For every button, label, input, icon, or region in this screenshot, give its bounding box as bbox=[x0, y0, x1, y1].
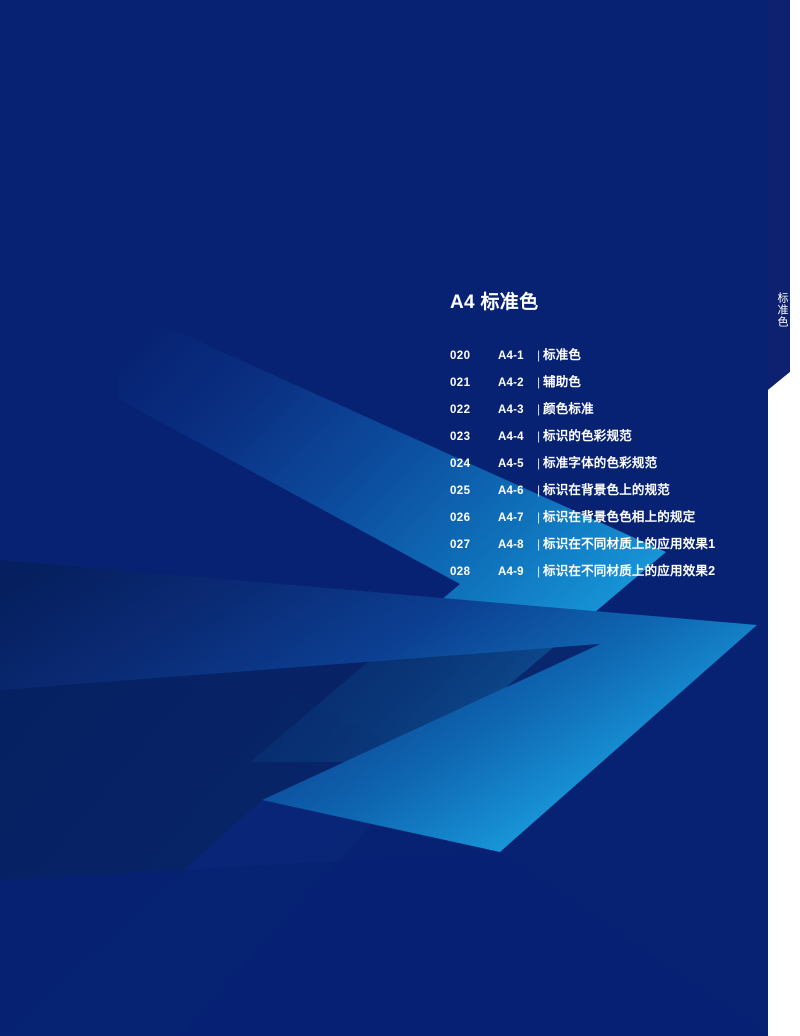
toc-separator: | bbox=[534, 375, 543, 389]
side-tab-label: 标准色 bbox=[768, 292, 790, 328]
toc-code: A4-2 bbox=[498, 377, 534, 389]
side-tab-shape bbox=[768, 0, 790, 390]
toc-code: A4-1 bbox=[498, 350, 534, 362]
toc-code: A4-8 bbox=[498, 539, 534, 551]
toc-separator: | bbox=[534, 402, 543, 416]
toc-number: 026 bbox=[450, 512, 498, 524]
toc-separator: | bbox=[534, 429, 543, 443]
toc-number: 020 bbox=[450, 350, 498, 362]
toc-separator: | bbox=[534, 564, 543, 578]
toc-label: 标识在背景色上的规范 bbox=[543, 479, 750, 498]
page-title: A4 标准色 bbox=[450, 290, 750, 316]
toc-code: A4-3 bbox=[498, 404, 534, 416]
toc-row[interactable]: 020 A4-1 | 标准色 bbox=[450, 344, 750, 371]
toc-code: A4-7 bbox=[498, 512, 534, 524]
toc-row[interactable]: 022 A4-3 | 颜色标准 bbox=[450, 398, 750, 425]
toc-separator: | bbox=[534, 483, 543, 497]
toc-label: 颜色标准 bbox=[543, 398, 750, 417]
toc-row[interactable]: 028 A4-9 | 标识在不同材质上的应用效果2 bbox=[450, 560, 750, 587]
toc-number: 024 bbox=[450, 458, 498, 470]
toc-number: 022 bbox=[450, 404, 498, 416]
toc-label: 标准色 bbox=[543, 344, 750, 363]
toc-number: 027 bbox=[450, 539, 498, 551]
toc-separator: | bbox=[534, 510, 543, 524]
toc-number: 023 bbox=[450, 431, 498, 443]
toc-row[interactable]: 023 A4-4 | 标识的色彩规范 bbox=[450, 425, 750, 452]
toc-separator: | bbox=[534, 456, 543, 470]
toc-number: 021 bbox=[450, 377, 498, 389]
toc-code: A4-5 bbox=[498, 458, 534, 470]
toc-label: 标识在不同材质上的应用效果2 bbox=[543, 560, 750, 579]
toc-separator: | bbox=[534, 348, 543, 362]
toc-separator: | bbox=[534, 537, 543, 551]
toc-row[interactable]: 026 A4-7 | 标识在背景色色相上的规定 bbox=[450, 506, 750, 533]
side-tab-notch bbox=[768, 372, 790, 1036]
page-root: 标准色 A4 标准色 020 A4-1 | 标准色 021 A4-2 | 辅助色… bbox=[0, 0, 800, 1036]
toc-code: A4-4 bbox=[498, 431, 534, 443]
toc-code: A4-6 bbox=[498, 485, 534, 497]
toc-number: 028 bbox=[450, 566, 498, 578]
toc-code: A4-9 bbox=[498, 566, 534, 578]
toc-label: 标识在背景色色相上的规定 bbox=[543, 506, 750, 525]
toc-label: 标识在不同材质上的应用效果1 bbox=[543, 533, 750, 552]
toc-row[interactable]: 027 A4-8 | 标识在不同材质上的应用效果1 bbox=[450, 533, 750, 560]
content-column: A4 标准色 020 A4-1 | 标准色 021 A4-2 | 辅助色 022… bbox=[450, 290, 750, 587]
toc-row[interactable]: 021 A4-2 | 辅助色 bbox=[450, 371, 750, 398]
toc-label: 辅助色 bbox=[543, 371, 750, 390]
toc-row[interactable]: 025 A4-6 | 标识在背景色上的规范 bbox=[450, 479, 750, 506]
toc-label: 标准字体的色彩规范 bbox=[543, 452, 750, 471]
toc-number: 025 bbox=[450, 485, 498, 497]
toc-list: 020 A4-1 | 标准色 021 A4-2 | 辅助色 022 A4-3 |… bbox=[450, 344, 750, 587]
toc-label: 标识的色彩规范 bbox=[543, 425, 750, 444]
toc-row[interactable]: 024 A4-5 | 标准字体的色彩规范 bbox=[450, 452, 750, 479]
